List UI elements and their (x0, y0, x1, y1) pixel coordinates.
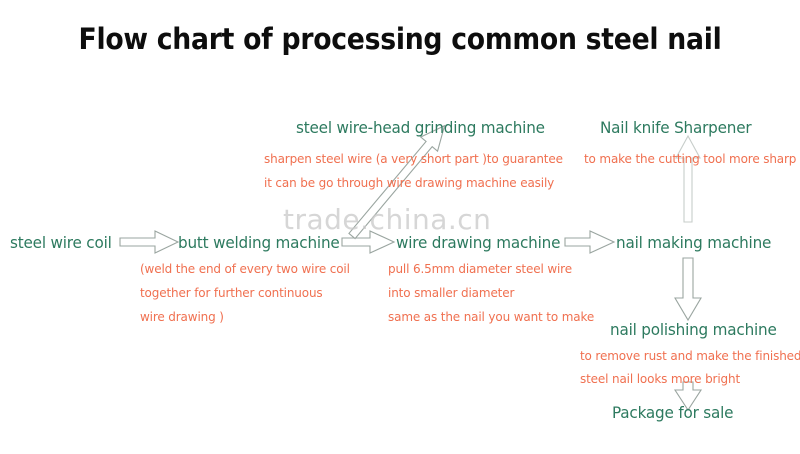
note-butt-welding-line-1: (weld the end of every two wire coil (140, 261, 350, 276)
note-wire-drawing-line-1: pull 6.5mm diameter steel wire (388, 261, 572, 276)
note-nail-knife-sharpener-line-1: to make the cutting tool more sharp (584, 151, 796, 166)
flowchart-canvas: Flow chart of processing common steel na… (0, 0, 800, 454)
note-grinding-machine-line-2: it can be go through wire drawing machin… (264, 175, 554, 190)
node-wire-drawing-machine[interactable]: wire drawing machine (396, 233, 560, 252)
page-title: Flow chart of processing common steel na… (32, 22, 768, 56)
note-nail-polishing-line-1: to remove rust and make the finished (580, 348, 800, 363)
note-wire-drawing-line-3: same as the nail you want to make (388, 309, 594, 324)
note-wire-drawing-line-2: into smaller diameter (388, 285, 514, 300)
node-package-for-sale[interactable]: Package for sale (612, 403, 733, 422)
arrow-nailmaking-to-polishing (675, 258, 701, 320)
node-grinding-machine[interactable]: steel wire-head grinding machine (296, 118, 545, 137)
note-butt-welding-line-2: together for further continuous (140, 285, 323, 300)
node-butt-welding-machine[interactable]: butt welding machine (178, 233, 340, 252)
node-nail-making-machine[interactable]: nail making machine (616, 233, 771, 252)
arrow-nailmaking-to-sharpener (676, 136, 700, 222)
node-steel-wire-coil[interactable]: steel wire coil (10, 233, 112, 252)
watermark: trade.china.cn (283, 203, 491, 236)
node-nail-polishing-machine[interactable]: nail polishing machine (610, 320, 777, 339)
note-grinding-machine-line-1: sharpen steel wire (a very short part )t… (264, 151, 563, 166)
arrow-welding-to-drawing (342, 231, 394, 253)
note-nail-polishing-line-2: steel nail looks more bright (580, 371, 740, 386)
note-butt-welding-line-3: wire drawing ) (140, 309, 224, 324)
arrow-coil-to-welding (120, 231, 178, 253)
node-nail-knife-sharpener[interactable]: Nail knife Sharpener (600, 118, 751, 137)
arrow-drawing-to-nailmaking (565, 231, 614, 253)
